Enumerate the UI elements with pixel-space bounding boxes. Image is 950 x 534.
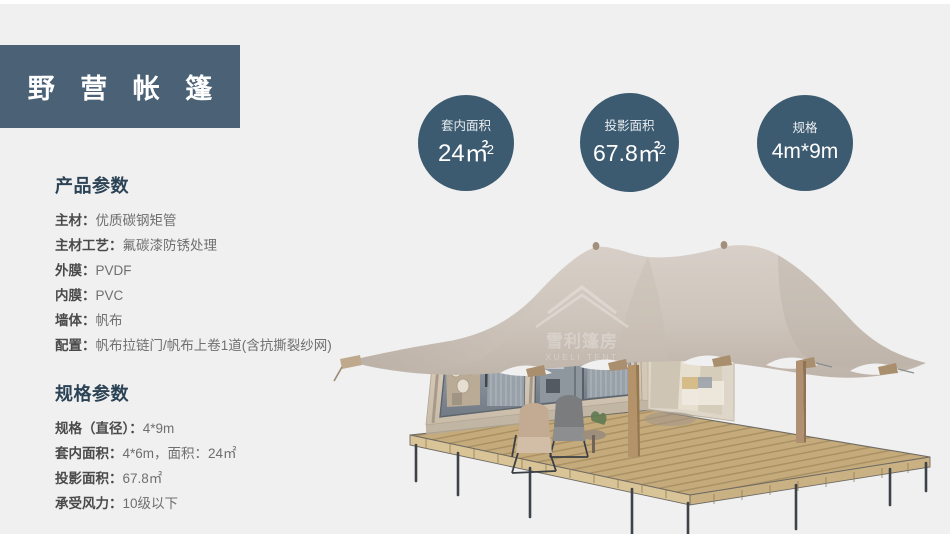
badge-value: 67.8㎡2 [593, 136, 666, 167]
spec-label: 配置： [55, 338, 96, 353]
top-white-strip [0, 0, 950, 4]
spec-label: 规格（直径）： [55, 421, 143, 436]
spec-value: 氟碳漆防锈处理 [123, 238, 218, 253]
spec-label: 外膜： [55, 263, 96, 278]
spec-label: 内膜： [55, 288, 96, 303]
slide-canvas: 野 营 帐 篷 产品参数 主材：优质碳钢矩管 主材工艺：氟碳漆防锈处理 外膜：P… [0, 0, 950, 534]
spec-value: 帆布拉链门/帆布上卷1道(含抗撕裂纱网) [96, 338, 332, 353]
badge-unit: ㎡ [638, 140, 661, 166]
spec-value: 4*6m，面积：24㎡ [123, 446, 237, 461]
badge-interior-area: 套内面积 24㎡2 [418, 95, 514, 191]
badge-number: 4m*9m [772, 140, 839, 163]
spec-value: 67.8㎡ [123, 471, 163, 486]
badge-projected-area: 投影面积 67.8㎡2 [580, 93, 679, 192]
badge-number: 67.8 [593, 140, 638, 166]
badge-superscript: 2 [487, 142, 494, 157]
badge-label: 规格 [792, 121, 817, 136]
spec-value: PVC [96, 288, 124, 303]
svg-text:雪利篷房: 雪利篷房 [546, 331, 618, 351]
spec-value: 10级以下 [123, 496, 179, 511]
badge-label: 套内面积 [441, 119, 491, 134]
spec-label: 投影面积： [55, 471, 123, 486]
spec-value: 优质碳钢矩管 [96, 213, 177, 228]
spec-value: PVDF [96, 263, 132, 278]
spec-label: 主材： [55, 213, 96, 228]
badge-value: 4m*9m [772, 138, 839, 165]
spec-label: 套内面积： [55, 446, 123, 461]
title-banner: 野 营 帐 篷 [0, 45, 240, 128]
badge-label: 投影面积 [604, 119, 654, 134]
badge-value: 24㎡2 [438, 136, 494, 167]
spec-value: 帆布 [96, 313, 123, 328]
badge-number: 24 [438, 140, 465, 167]
spec-value: 4*9m [143, 421, 175, 436]
spec-label: 墙体： [55, 313, 96, 328]
tent-canopy: 雪利篷房 XUELI TENT [334, 241, 926, 381]
page-title: 野 营 帐 篷 [19, 67, 222, 106]
svg-text:XUELI TENT: XUELI TENT [546, 352, 619, 362]
spec-label: 承受风力： [55, 496, 123, 511]
spec-label: 主材工艺： [55, 238, 123, 253]
badge-unit: ㎡ [465, 140, 489, 167]
badge-specification: 规格 4m*9m [757, 95, 853, 191]
badge-superscript: 2 [659, 142, 666, 157]
tent-product-image: 雪利篷房 XUELI TENT [330, 195, 950, 534]
